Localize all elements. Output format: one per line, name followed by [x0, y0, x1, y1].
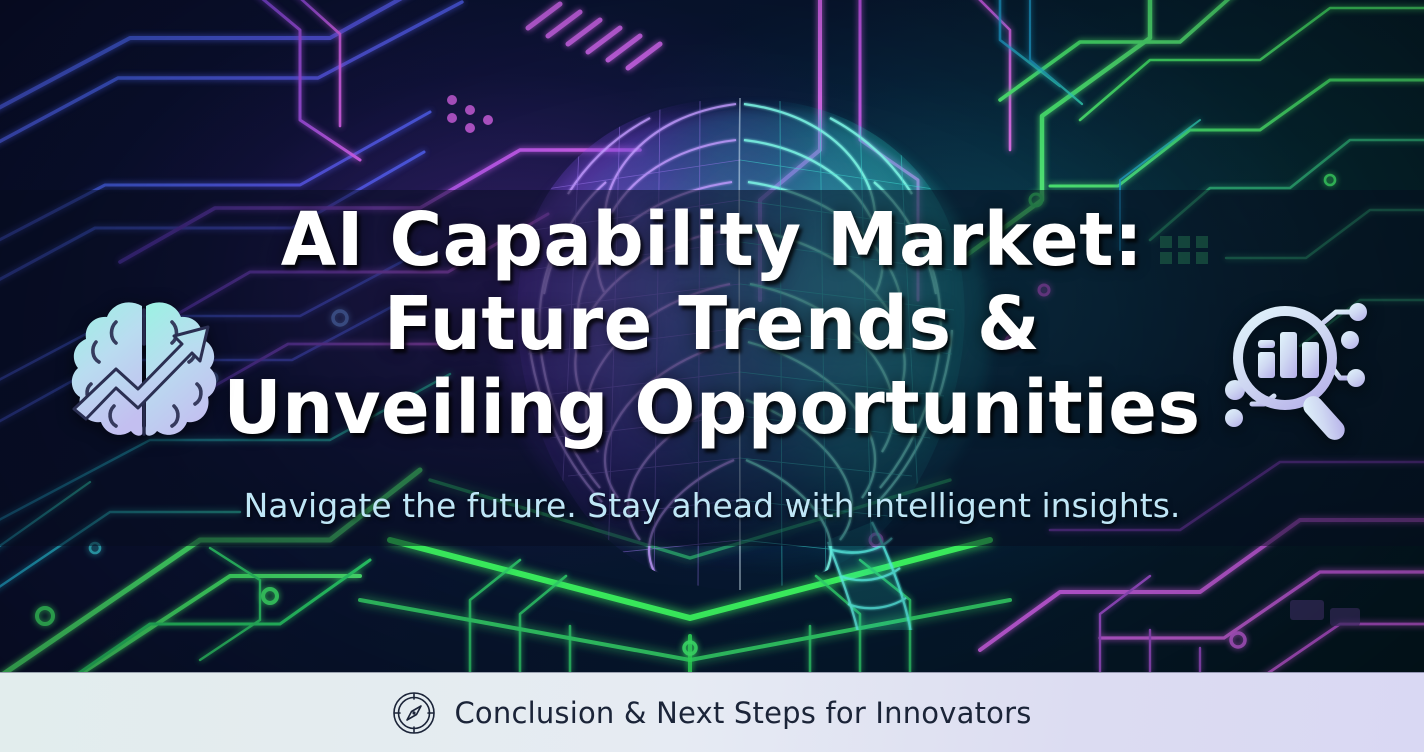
page-subtitle: Navigate the future. Stay ahead with int… — [0, 484, 1424, 528]
compass-icon — [392, 691, 436, 735]
slide-root: AI Capability Market: Future Trends & Un… — [0, 0, 1424, 752]
footer-bar: Conclusion & Next Steps for Innovators — [0, 672, 1424, 752]
brain-growth-chart-icon — [58, 288, 230, 452]
footer-label: Conclusion & Next Steps for Innovators — [454, 696, 1031, 730]
title-line-1: AI Capability Market: — [21, 198, 1402, 282]
magnifier-bar-chart-icon — [1218, 292, 1378, 450]
